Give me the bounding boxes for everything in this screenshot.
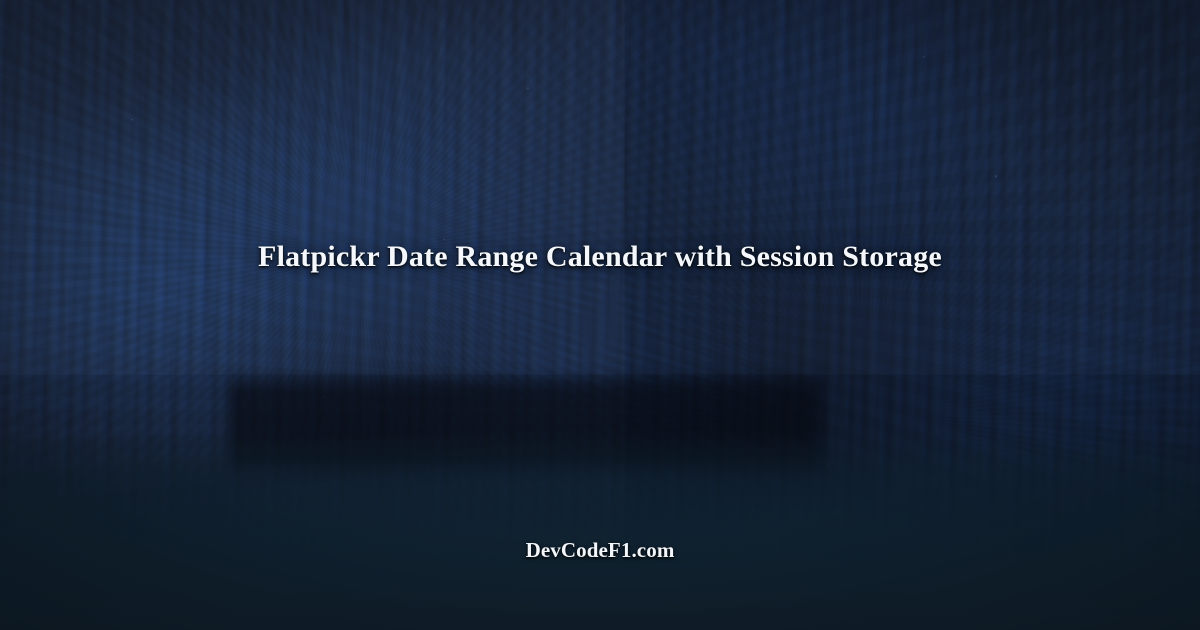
- social-share-card: Flatpickr Date Range Calendar with Sessi…: [0, 0, 1200, 630]
- page-title: Flatpickr Date Range Calendar with Sessi…: [0, 238, 1200, 276]
- card-content: Flatpickr Date Range Calendar with Sessi…: [0, 0, 1200, 630]
- site-brand-label: DevCodeF1.com: [0, 536, 1200, 564]
